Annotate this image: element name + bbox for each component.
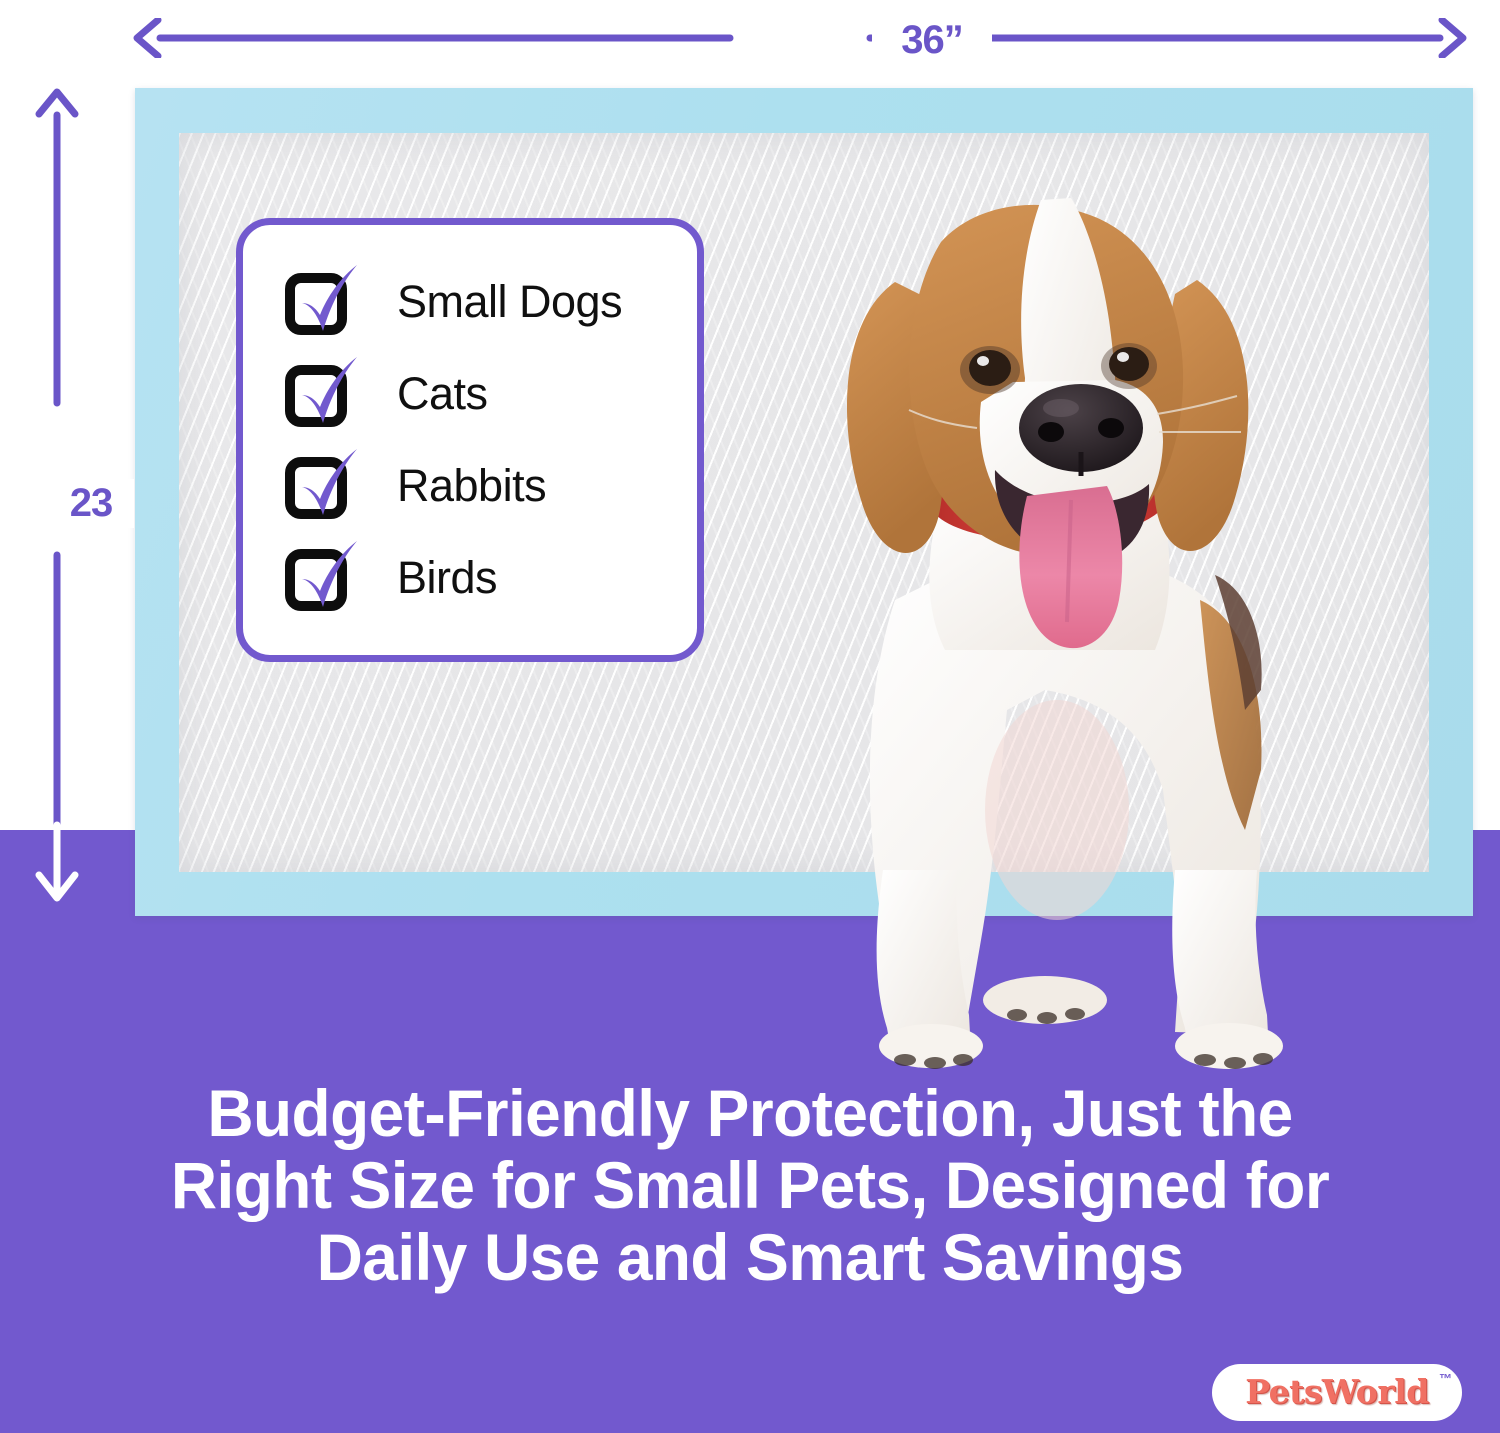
checkbox-checked-icon[interactable] bbox=[289, 274, 345, 330]
checklist-item-label: Cats bbox=[397, 368, 488, 420]
headline-line-1: Budget-Friendly Protection, Just the bbox=[81, 1078, 1420, 1150]
checkbox-checked-icon[interactable] bbox=[289, 366, 345, 422]
checklist-item-label: Rabbits bbox=[397, 460, 546, 512]
checklist-item[interactable]: Cats bbox=[243, 348, 697, 440]
checklist-item-label: Small Dogs bbox=[397, 276, 622, 328]
height-dimension-arrow: 23 bbox=[34, 85, 80, 930]
headline-text: Budget-Friendly Protection, Just the Rig… bbox=[81, 1078, 1420, 1294]
checklist-item-label: Birds bbox=[397, 552, 497, 604]
brand-name: PetsWorld bbox=[1245, 1372, 1429, 1411]
height-dimension-label: 23 bbox=[48, 479, 134, 528]
beagle-dog-photo bbox=[745, 170, 1305, 1070]
width-dimension-arrow: 36” bbox=[130, 18, 1470, 58]
checklist-item[interactable]: Rabbits bbox=[243, 440, 697, 532]
headline-line-3: Daily Use and Smart Savings bbox=[81, 1222, 1420, 1294]
headline-line-2: Right Size for Small Pets, Designed for bbox=[81, 1150, 1420, 1222]
checkbox-checked-icon[interactable] bbox=[289, 550, 345, 606]
product-infographic: Small Dogs Cats Rabbits bbox=[0, 0, 1500, 1433]
checklist-item[interactable]: Birds bbox=[243, 532, 697, 624]
trademark-symbol: ™ bbox=[1439, 1371, 1452, 1386]
brand-logo: PetsWorld ™ bbox=[1212, 1364, 1462, 1421]
width-dimension-label: 36” bbox=[872, 18, 992, 63]
checklist-item[interactable]: Small Dogs bbox=[243, 256, 697, 348]
compatible-pets-checklist: Small Dogs Cats Rabbits bbox=[236, 218, 704, 662]
checkbox-checked-icon[interactable] bbox=[289, 458, 345, 514]
